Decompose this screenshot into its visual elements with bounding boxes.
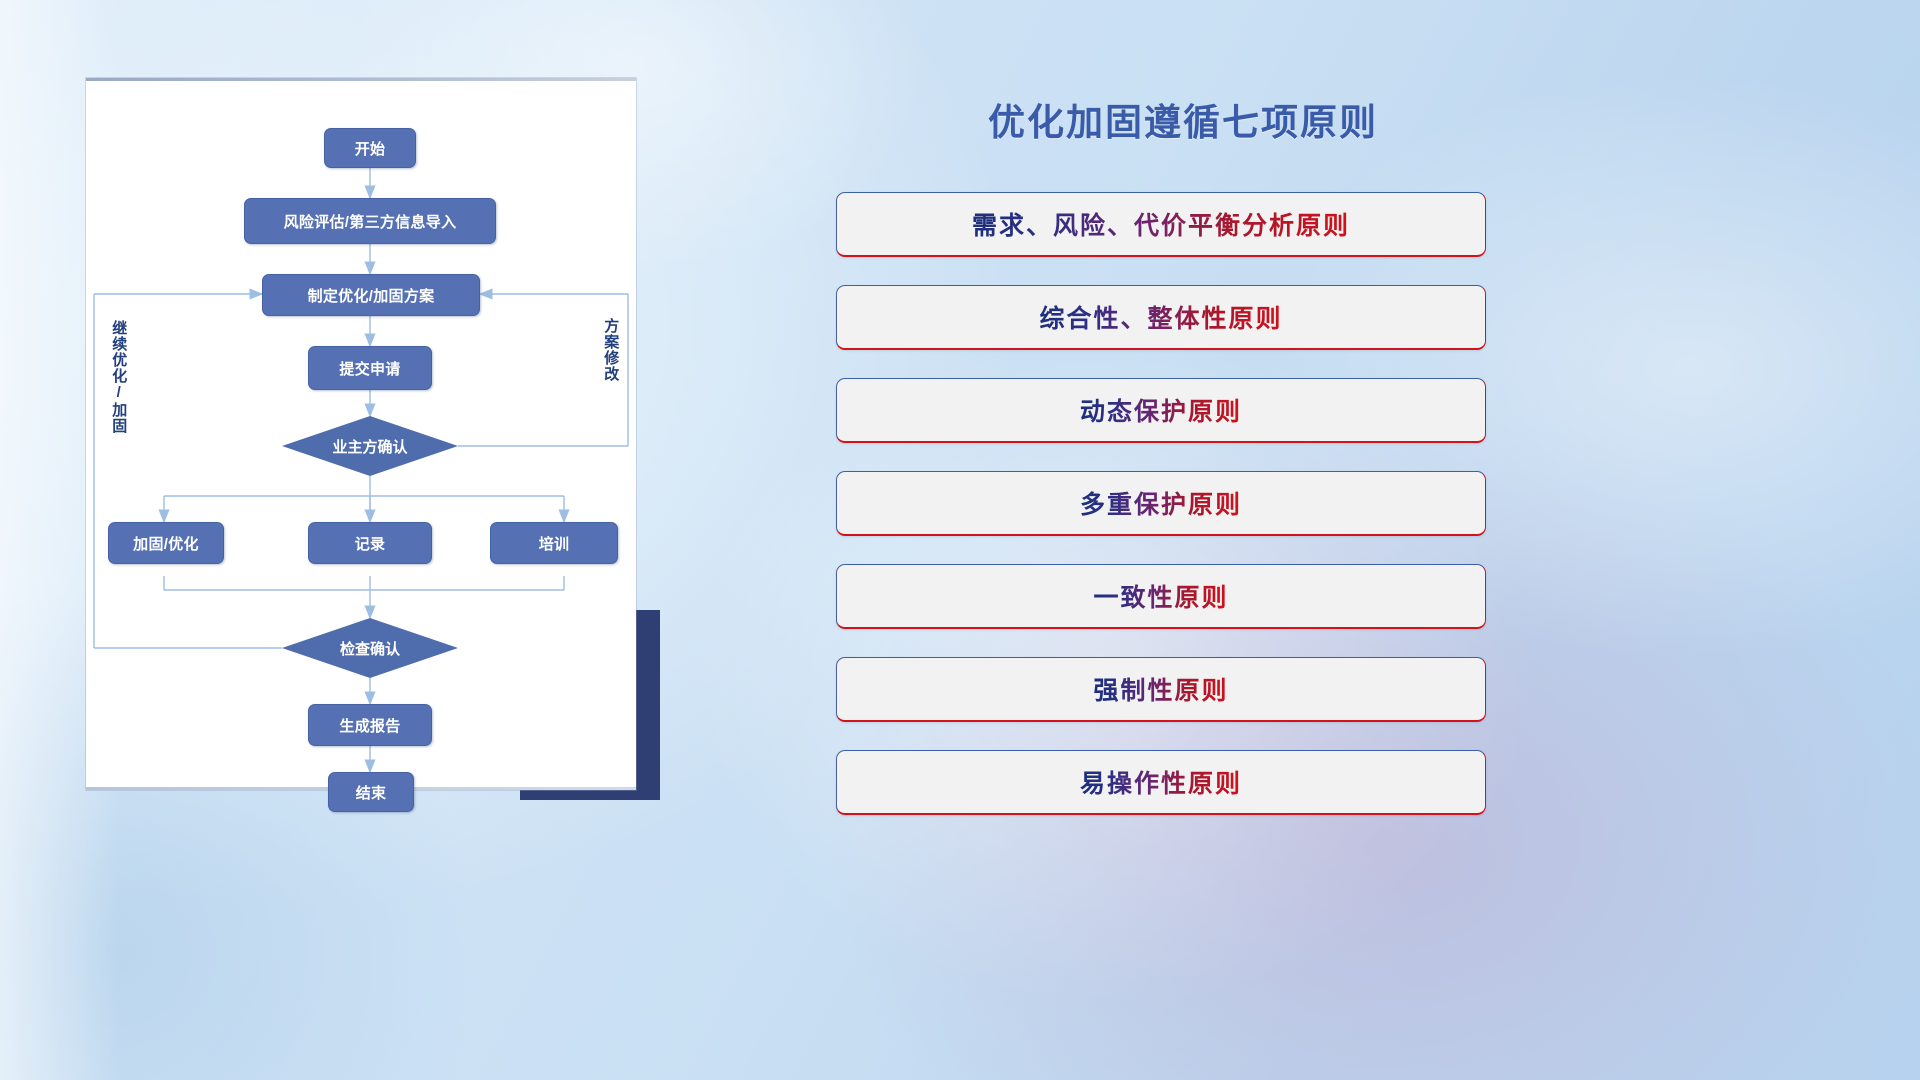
flow-node-submit-label: 提交申请 (339, 358, 400, 379)
principle-item-2[interactable]: 综合性、整体性原则 (836, 285, 1486, 350)
principle-item-1[interactable]: 需求、风险、代价平衡分析原则 (836, 192, 1486, 257)
flow-node-end-label: 结束 (356, 782, 387, 803)
flow-node-training-label: 培训 (539, 533, 570, 554)
flow-node-plan[interactable]: 制定优化/加固方案 (262, 274, 480, 316)
principle-item-4[interactable]: 多重保护原则 (836, 471, 1486, 536)
principles-list: 需求、风险、代价平衡分析原则 综合性、整体性原则 动态保护原则 多重保护原则 一… (836, 192, 1486, 843)
flow-node-reinforce[interactable]: 加固/优化 (108, 522, 224, 564)
flow-node-record-label: 记录 (355, 533, 386, 554)
principle-item-5[interactable]: 一致性原则 (836, 564, 1486, 629)
flowchart: 开始 风险评估/第三方信息导入 制定优化/加固方案 提交申请 业主方确认 加固/… (86, 78, 636, 790)
principle-item-2-label: 综合性、整体性原则 (1039, 299, 1282, 335)
principle-item-6[interactable]: 强制性原则 (836, 657, 1486, 722)
flow-node-plan-label: 制定优化/加固方案 (308, 285, 435, 306)
flow-node-risk-assessment[interactable]: 风险评估/第三方信息导入 (244, 198, 496, 244)
flow-node-report-label: 生成报告 (339, 715, 400, 736)
flow-node-training[interactable]: 培训 (490, 522, 618, 564)
flow-edge-label-continue-optimize: 继续优化/加固 (110, 320, 126, 434)
principle-item-6-label: 强制性原则 (1093, 671, 1228, 707)
principle-item-7-label: 易操作性原则 (1080, 764, 1242, 800)
flow-node-start[interactable]: 开始 (324, 128, 416, 168)
flow-node-reinforce-label: 加固/优化 (133, 533, 199, 554)
principle-item-3-label: 动态保护原则 (1080, 392, 1242, 428)
flow-node-report[interactable]: 生成报告 (308, 704, 432, 746)
flow-node-owner-confirm-label: 业主方确认 (332, 436, 407, 457)
flow-node-record[interactable]: 记录 (308, 522, 432, 564)
principle-item-1-label: 需求、风险、代价平衡分析原则 (972, 206, 1350, 242)
principle-item-5-label: 一致性原则 (1093, 578, 1228, 614)
flow-node-submit[interactable]: 提交申请 (308, 346, 432, 390)
principle-item-3[interactable]: 动态保护原则 (836, 378, 1486, 443)
principle-item-4-label: 多重保护原则 (1080, 485, 1242, 521)
page-title: 优化加固遵循七项原则 (948, 92, 1418, 146)
flowchart-card: 开始 风险评估/第三方信息导入 制定优化/加固方案 提交申请 业主方确认 加固/… (86, 78, 636, 790)
flow-node-start-label: 开始 (355, 138, 386, 159)
principle-item-7[interactable]: 易操作性原则 (836, 750, 1486, 815)
flow-node-risk-assessment-label: 风险评估/第三方信息导入 (284, 211, 457, 232)
flow-edge-label-plan-revision: 方案修改 (602, 318, 618, 382)
flow-node-check-confirm-label: 检查确认 (340, 638, 400, 659)
flow-node-end[interactable]: 结束 (328, 772, 414, 812)
